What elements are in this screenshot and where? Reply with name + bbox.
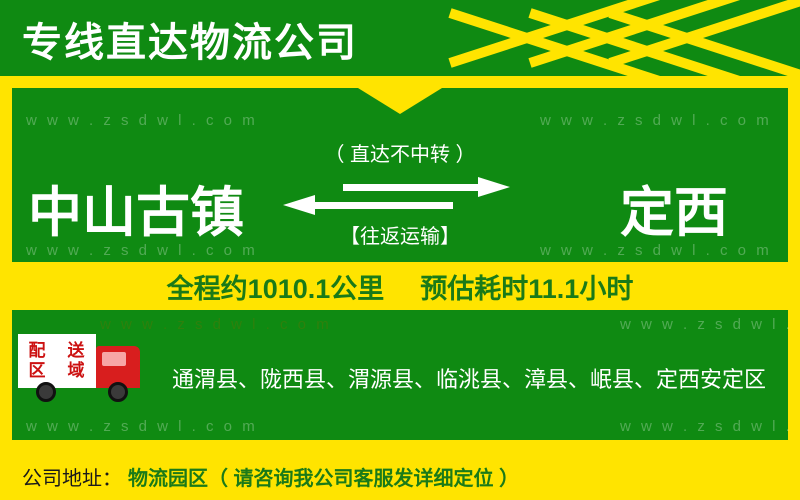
truck-label-char-2: 送 — [57, 341, 96, 361]
truck-label-char-1: 配 — [18, 341, 57, 361]
origin-city: 中山古镇 — [28, 168, 244, 247]
watermark: w w w . z s d w l . c o m — [620, 418, 800, 435]
logistics-banner: 专线直达物流公司 w w w . z s d w l . c o m w w w… — [0, 0, 800, 500]
watermark: w w w . z s d w l . c o m — [26, 112, 258, 129]
chevron-decoration — [420, 0, 800, 76]
address-value: 物流园区（ 请咨询我公司客服发详细定位 ） — [128, 462, 519, 491]
arrow-right-icon — [343, 180, 513, 194]
truck-icon: 配 送 区 域 — [18, 330, 168, 410]
distance-text: 全程约1010.1公里 — [167, 267, 385, 306]
truck-wheel — [108, 382, 128, 402]
duration-text: 预估耗时11.1小时 — [420, 267, 633, 306]
route-note-bottom: 【往返运输】 — [300, 220, 500, 249]
route-note-top: （ 直达不中转 ） — [300, 138, 500, 167]
destination-city: 定西 — [620, 168, 728, 247]
address-bar: 公司地址： 物流园区（ 请咨询我公司客服发详细定位 ） — [0, 452, 800, 500]
watermark: w w w . z s d w l . c o m — [26, 418, 258, 435]
truck-label-char-4: 域 — [57, 361, 96, 381]
truck-wheel — [36, 382, 56, 402]
arrow-left-icon — [283, 198, 453, 212]
page-title: 专线直达物流公司 — [22, 10, 358, 68]
truck-label-char-3: 区 — [18, 361, 57, 381]
coverage-area-text: 通渭县、陇西县、渭源县、临洮县、漳县、岷县、定西安定区 — [172, 362, 772, 394]
bidirectional-arrow-icon — [283, 180, 513, 214]
watermark: w w w . z s d w l . c o m — [620, 316, 800, 333]
truck-cargo-label: 配 送 区 域 — [18, 334, 96, 388]
stats-bar: 全程约1010.1公里 预估耗时11.1小时 — [12, 262, 788, 310]
address-label: 公司地址： — [22, 462, 122, 491]
watermark: w w w . z s d w l . c o m — [540, 112, 772, 129]
